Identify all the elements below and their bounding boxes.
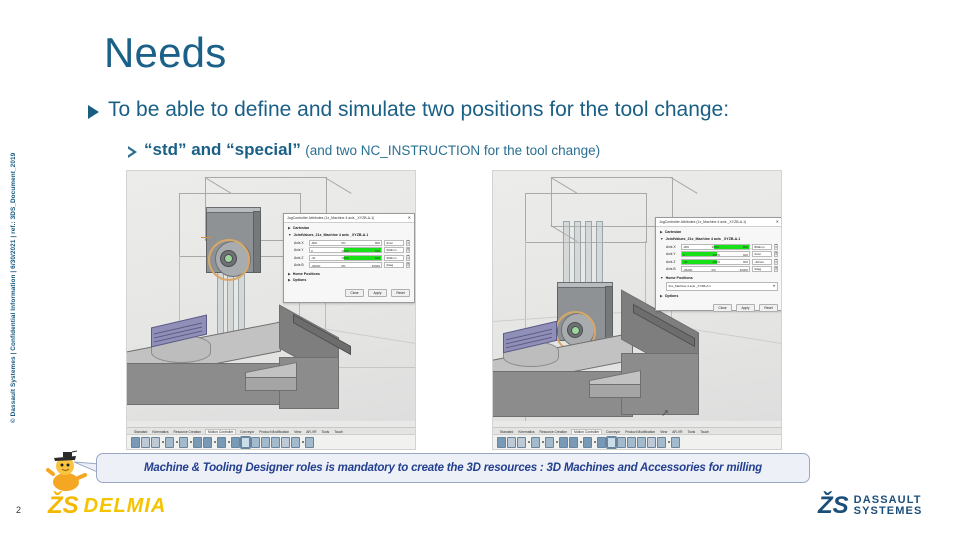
screenshot-special-position: ➚ JogController Attributes (1x_Machine 4…	[492, 170, 782, 450]
axis-label: Axis Y	[294, 248, 307, 252]
axis-spinner[interactable]: ▲▼	[774, 266, 778, 272]
dropdown-dot-icon[interactable]	[162, 441, 164, 443]
spindle-head-side	[605, 286, 613, 341]
section-label: Home Positions	[666, 276, 693, 280]
report-icon[interactable]	[671, 437, 680, 448]
axis-percent: -100%	[711, 260, 720, 264]
axis-percent: 100%	[341, 249, 349, 253]
report-icon[interactable]	[305, 437, 314, 448]
dialog-title: JogController Attributes (1x_Machine 4 a…	[287, 216, 374, 220]
axis-percent: 100%	[341, 256, 349, 260]
dropdown-dot-icon[interactable]	[302, 441, 304, 443]
spindle-axis-indicator	[571, 326, 580, 335]
axis-min: -40	[683, 260, 687, 264]
dropdown-dot-icon[interactable]	[190, 441, 192, 443]
section-label: Cartesian	[665, 230, 681, 234]
delmia-logo: ŽS DELMIA	[48, 494, 166, 518]
redo-icon[interactable]	[179, 437, 188, 448]
section-cartesian[interactable]: ▶ Cartesian	[660, 230, 778, 234]
axis-spinner[interactable]: ▲▼	[406, 240, 410, 246]
reset-button[interactable]: Reset	[759, 304, 778, 312]
axis-label: Axis Z	[666, 260, 679, 264]
tab-conveyor[interactable]: Conveyor	[605, 430, 621, 434]
dropdown-dot-icon[interactable]	[594, 441, 596, 443]
callout-text: Machine & Tooling Designer roles is mand…	[144, 462, 762, 474]
axis-row[interactable]: Axis B -36000 0% 36000 0deg ▲▼	[666, 266, 778, 274]
axis-value-input[interactable]: 0mm	[752, 251, 772, 257]
jog-controller-dialog-left[interactable]: JogController Attributes (1x_Machine 4 a…	[283, 213, 415, 303]
bullet-level-1-text: To be able to define and simulate two po…	[108, 98, 729, 122]
axis-max: 36000	[740, 268, 748, 272]
tab-tools[interactable]: Tools	[686, 430, 696, 434]
dialog-buttons: Close Apply Reset	[284, 287, 414, 300]
dialog-body: ▶ Cartesian ▼ JointValues_21x_Machine 4 …	[656, 227, 781, 302]
axis-percent: 0%	[341, 264, 345, 268]
undo-icon[interactable]	[165, 437, 174, 448]
callout-banner: Machine & Tooling Designer roles is mand…	[96, 453, 810, 483]
section-cartesian[interactable]: ▶ Cartesian	[288, 226, 410, 230]
dropdown-dot-icon[interactable]	[556, 441, 558, 443]
axis-spinner[interactable]: ▲▼	[406, 255, 410, 261]
axis-min: -800	[683, 245, 689, 249]
axis-spinner[interactable]: ▲▼	[406, 247, 410, 253]
close-button[interactable]: Close	[345, 289, 364, 297]
teach-icon[interactable]	[217, 437, 226, 448]
bullet-level-2-wrap: “std” and “special” (and two NC_INSTRUCT…	[144, 140, 600, 160]
tab-kinematics[interactable]: Kinematics	[517, 430, 535, 434]
app-toolbar-right	[493, 434, 781, 449]
tool-change-icon[interactable]	[607, 437, 616, 448]
simulate-icon[interactable]	[203, 437, 212, 448]
delmia-wordmark: DELMIA	[84, 496, 167, 516]
tab-product-modification[interactable]: Product Modification	[624, 430, 656, 434]
axis-slider[interactable]: -800 100% 800	[681, 244, 750, 250]
chevron-down-icon: ▼	[288, 233, 292, 237]
ds-wordmark: DASSAULT SYSTEMES	[854, 495, 923, 517]
axis-value-input[interactable]: 600mm	[384, 247, 404, 253]
tab-resource-creation[interactable]: Resource Creation	[539, 430, 569, 434]
axis-min: -36000	[683, 268, 692, 272]
section-joint-values[interactable]: ▼ JointValues_21x_Machine 4 axis _XYZB-A…	[288, 233, 410, 237]
dropdown-dot-icon[interactable]	[176, 441, 178, 443]
bullet-level-2: “std” and “special” (and two NC_INSTRUCT…	[128, 140, 908, 160]
cad-viewport-right[interactable]: ➚ JogController Attributes (1x_Machine 4…	[493, 171, 781, 421]
axis-max: 600	[743, 260, 748, 264]
dialog-body: ▶ Cartesian ▼ JointValues_21x_Machine 4 …	[284, 223, 414, 287]
axis-row[interactable]: Axis B -36000 0% 36000 0deg ▲▼	[294, 262, 410, 270]
axis-row[interactable]: Axis Z -40 100% 600 600mm ▲▼	[294, 254, 410, 262]
dropdown-dot-icon[interactable]	[528, 441, 530, 443]
axis-max: 600	[375, 249, 380, 253]
spindle-head-side	[253, 211, 261, 273]
axis-min: -40	[311, 256, 315, 260]
attach-icon[interactable]	[647, 437, 656, 448]
axis-table-right: Axis X -800 100% 800 800mm ▲▼ Axis Y	[666, 243, 778, 273]
axis-value-input[interactable]: 600mm	[384, 255, 404, 261]
screenshot-std-position: ➚ JogController Attributes (1x_Machine 4…	[126, 170, 416, 450]
axis-label: Axis B	[666, 267, 679, 271]
axis-spinner[interactable]: ▲▼	[406, 262, 410, 268]
section-label: Options	[665, 294, 679, 298]
axis-min: 0	[311, 249, 313, 253]
axis-value-input[interactable]: -40mm	[752, 259, 772, 265]
cut-icon[interactable]	[497, 437, 506, 448]
mascot-icon	[44, 448, 88, 492]
home-position-select[interactable]: 21x_Machine 4 axis _XYZB-A.1 ▼	[666, 282, 778, 291]
attach-icon[interactable]	[281, 437, 290, 448]
axis-row[interactable]: Axis Y 0 -100% 600 0mm ▲▼	[666, 251, 778, 259]
chevron-right-icon: ▶	[288, 226, 291, 230]
dropdown-dot-icon[interactable]	[542, 441, 544, 443]
tab-touch[interactable]: Touch	[699, 430, 710, 434]
axis-value-input[interactable]: 800mm	[752, 244, 772, 250]
motion-profile-icon[interactable]	[261, 437, 270, 448]
axis-max: 600	[743, 253, 748, 257]
tab-resource-creation[interactable]: Resource Creation	[173, 430, 203, 434]
axis-min: -800	[311, 241, 317, 245]
axis-value-input[interactable]: 0mm	[384, 240, 404, 246]
jog-controller-dialog-right[interactable]: JogController Attributes (1x_Machine 4 a…	[655, 217, 781, 311]
enclosure-edge	[670, 177, 697, 194]
axis-label: Axis Z	[294, 256, 307, 260]
close-icon[interactable]: ✕	[776, 220, 779, 224]
axis-max: 36000	[372, 264, 380, 268]
chevron-right-icon: ▶	[288, 278, 291, 282]
paste-icon[interactable]	[517, 437, 526, 448]
jog-icon[interactable]	[559, 437, 568, 448]
copy-icon[interactable]	[141, 437, 150, 448]
page-number: 2	[16, 505, 21, 515]
chevron-right-icon: ▶	[660, 294, 663, 298]
bullet-level-2-strong: “std” and “special”	[144, 140, 301, 159]
dropdown-dot-icon[interactable]	[228, 441, 230, 443]
home-position-icon[interactable]	[597, 437, 606, 448]
axis-value-input[interactable]: 0deg	[384, 262, 404, 268]
teach-icon[interactable]	[583, 437, 592, 448]
copy-icon[interactable]	[507, 437, 516, 448]
tab-kinematics[interactable]: Kinematics	[151, 430, 169, 434]
axis-percent: -100%	[711, 253, 720, 257]
dialog-buttons: Close Apply Reset	[656, 302, 781, 315]
axis-spinner[interactable]: ▲▼	[774, 251, 778, 257]
axis-percent: 0%	[341, 241, 345, 245]
tab-touch[interactable]: Touch	[333, 430, 344, 434]
jog-icon[interactable]	[193, 437, 202, 448]
tab-view[interactable]: View	[659, 430, 668, 434]
axis-slider[interactable]: -40 100% 600	[309, 255, 382, 261]
section-label: Options	[293, 278, 307, 282]
tab-product-modification[interactable]: Product Modification	[258, 430, 290, 434]
ds-wordmark-line2: SYSTEMES	[854, 506, 923, 517]
section-label: Cartesian	[293, 226, 309, 230]
section-home-positions[interactable]: ▶ Home Positions	[288, 272, 410, 276]
dropdown-dot-icon[interactable]	[668, 441, 670, 443]
axis-slider[interactable]: 0 -100% 600	[681, 251, 750, 257]
section-joint-values[interactable]: ▼ JointValues_21x_Machine 4 axis _XYZB-A…	[660, 237, 778, 241]
axis-slider[interactable]: 0 100% 600	[309, 247, 382, 253]
machine-bed-step-front	[245, 377, 297, 391]
analysis-icon[interactable]	[291, 437, 300, 448]
section-label: Home Positions	[293, 272, 320, 276]
nc-instruction-icon[interactable]	[271, 437, 280, 448]
reset-button[interactable]: Reset	[391, 289, 410, 297]
axis-row[interactable]: Axis Z -40 -100% 600 -40mm ▲▼	[666, 258, 778, 266]
tab-ar-vr[interactable]: AR-VR	[671, 430, 683, 434]
tab-tools[interactable]: Tools	[320, 430, 330, 434]
analysis-icon[interactable]	[657, 437, 666, 448]
axis-label: Axis X	[294, 241, 307, 245]
tool-change-icon[interactable]	[241, 437, 250, 448]
enclosure-edge	[324, 177, 351, 194]
dialog-title-bar[interactable]: JogController Attributes (1x_Machine 4 a…	[656, 218, 781, 227]
chevron-down-icon: ▼	[660, 276, 664, 280]
section-options[interactable]: ▶ Options	[288, 278, 410, 282]
axis-row[interactable]: Axis X -800 100% 800 800mm ▲▼	[666, 243, 778, 251]
tab-standard[interactable]: Standard	[133, 430, 148, 434]
delmia-mark-icon: ŽS	[48, 494, 79, 518]
dialog-title: JogController Attributes (1x_Machine 4 a…	[659, 220, 746, 224]
spindle-axis-indicator	[224, 254, 233, 263]
device-task-icon[interactable]	[617, 437, 626, 448]
axis-label: Axis Y	[666, 252, 679, 256]
axis-spinner[interactable]: ▲▼	[774, 259, 778, 265]
axis-max: 800	[375, 241, 380, 245]
page-title: Needs	[104, 32, 226, 74]
ds-mark-icon: ŽS	[818, 494, 849, 518]
bullet-level-1: To be able to define and simulate two po…	[88, 98, 908, 122]
chevron-right-icon: ▶	[660, 230, 663, 234]
tab-ar-vr[interactable]: AR-VR	[305, 430, 317, 434]
axis-spinner[interactable]: ▲▼	[774, 244, 778, 250]
chevron-down-icon[interactable]: ▼	[773, 284, 776, 288]
apply-button[interactable]: Apply	[736, 304, 755, 312]
dialog-title-bar[interactable]: JogController Attributes (1x_Machine 4 a…	[284, 214, 414, 223]
simulate-icon[interactable]	[569, 437, 578, 448]
chevron-down-icon: ▼	[660, 237, 664, 241]
app-toolbar-left	[127, 434, 415, 449]
undo-icon[interactable]	[531, 437, 540, 448]
axis-slider[interactable]: -36000 0% 36000	[309, 262, 382, 268]
axis-min: 0	[683, 253, 685, 257]
axis-max: 800	[743, 245, 748, 249]
axis-row[interactable]: Axis X -800 0% 800 0mm ▲▼	[294, 239, 410, 247]
section-home-positions[interactable]: ▼ Home Positions	[660, 276, 778, 280]
machine-bed-step-front	[589, 384, 641, 398]
dropdown-dot-icon[interactable]	[214, 441, 216, 443]
axis-percent: 100%	[711, 245, 719, 249]
axis-row[interactable]: Axis Y 0 100% 600 600mm ▲▼	[294, 247, 410, 255]
dropdown-dot-icon[interactable]	[580, 441, 582, 443]
bullet-triangle-hollow-icon	[128, 146, 137, 158]
axis-min: -36000	[311, 264, 320, 268]
bullet-triangle-filled-icon	[88, 105, 99, 119]
home-position-value: 21x_Machine 4 axis _XYZB-A.1	[669, 284, 711, 288]
bullet-level-2-note: (and two NC_INSTRUCTION for the tool cha…	[305, 143, 600, 158]
nc-instruction-icon[interactable]	[637, 437, 646, 448]
copyright-notice: © Dassault Systemes | Confidential Infor…	[10, 133, 17, 423]
section-label: JointValues_21x_Machine 4 axis _XYZB-A.1	[294, 233, 369, 237]
axis-marker	[201, 237, 211, 238]
motion-profile-icon[interactable]	[627, 437, 636, 448]
axis-label: Axis X	[666, 245, 679, 249]
mouse-cursor-icon: ➚	[661, 409, 669, 419]
axis-table-left: Axis X -800 0% 800 0mm ▲▼ Axis Y	[294, 239, 410, 269]
tab-view[interactable]: View	[293, 430, 302, 434]
apply-button[interactable]: Apply	[368, 289, 387, 297]
chevron-right-icon: ▶	[288, 272, 291, 276]
paste-icon[interactable]	[151, 437, 160, 448]
cut-icon[interactable]	[131, 437, 140, 448]
device-task-icon[interactable]	[251, 437, 260, 448]
axis-slider[interactable]: -36000 0% 36000	[681, 266, 750, 272]
close-icon[interactable]: ✕	[408, 216, 411, 220]
section-options[interactable]: ▶ Options	[660, 294, 778, 298]
tab-standard[interactable]: Standard	[499, 430, 514, 434]
home-position-icon[interactable]	[231, 437, 240, 448]
cad-viewport-left[interactable]: ➚ JogController Attributes (1x_Machine 4…	[127, 171, 415, 421]
slide: Needs © Dassault Systemes | Confidential…	[0, 0, 960, 540]
axis-label: Axis B	[294, 263, 307, 267]
axis-value-input[interactable]: 0deg	[752, 266, 772, 272]
tab-conveyor[interactable]: Conveyor	[239, 430, 255, 434]
dassault-systemes-logo: ŽS DASSAULT SYSTEMES	[818, 494, 922, 518]
section-label: JointValues_21x_Machine 4 axis _XYZB-A.1	[666, 237, 741, 241]
axis-slider[interactable]: -40 -100% 600	[681, 259, 750, 265]
axis-slider[interactable]: -800 0% 800	[309, 240, 382, 246]
axis-percent: 0%	[711, 268, 715, 272]
axis-max: 600	[375, 256, 380, 260]
close-button[interactable]: Close	[713, 304, 732, 312]
redo-icon[interactable]	[545, 437, 554, 448]
